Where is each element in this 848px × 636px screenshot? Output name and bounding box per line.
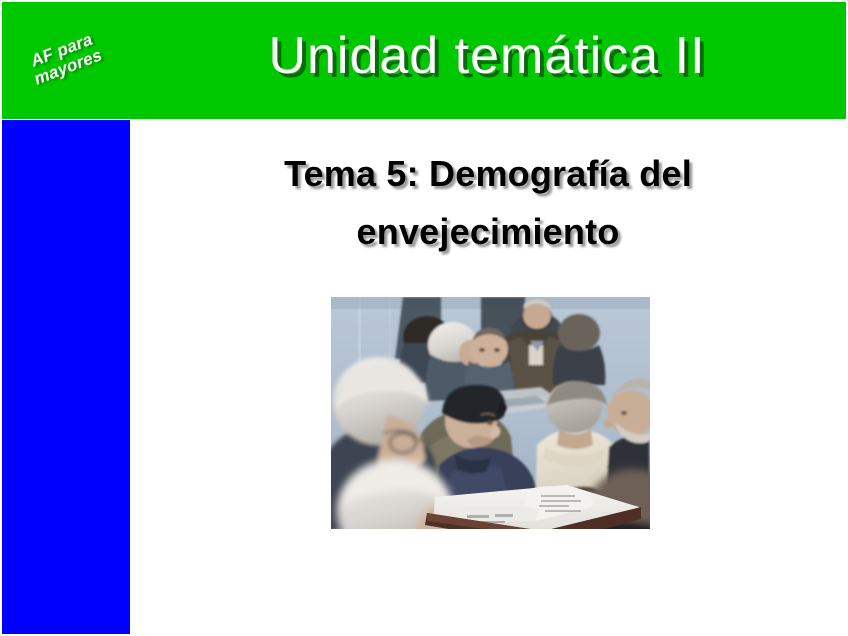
- subtitle-line-1: Tema 5: Demografía del: [284, 153, 692, 194]
- topic-subtitle: Tema 5: Demografía del envejecimiento: [130, 145, 846, 262]
- slide-content: Tema 5: Demografía del envejecimiento: [130, 120, 846, 634]
- subtitle-line-2: envejecimiento: [130, 203, 846, 261]
- left-blue-sidebar: [2, 120, 130, 634]
- elderly-men-reading-newspapers-photo: [331, 297, 650, 529]
- unit-title: Unidad temática II: [130, 26, 844, 86]
- presentation-slide: AF para mayores Unidad temática II Tema …: [0, 0, 848, 636]
